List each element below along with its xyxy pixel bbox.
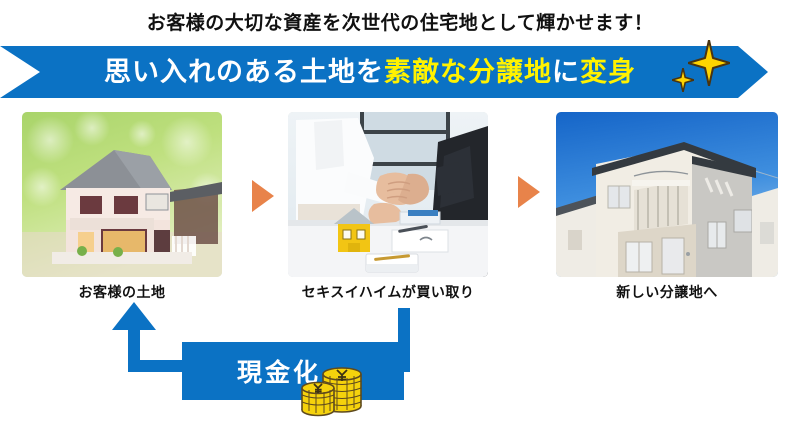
- steps-row: お客様の土地: [0, 112, 800, 302]
- step-card-3-label: 新しい分譲地へ: [556, 282, 778, 302]
- step-card-1[interactable]: お客様の土地: [22, 112, 222, 277]
- step-card-2[interactable]: セキスイハイムが買い取り: [288, 112, 488, 277]
- ribbon-segment-2: 素敵な分譲地: [384, 59, 552, 86]
- ribbon-segment-4: 変身: [580, 59, 636, 86]
- house-model-green-bokeh-image: [22, 112, 222, 277]
- new-houses-blue-sky-image: [556, 112, 778, 277]
- ribbon-segment-1: 思い入れのある土地を: [104, 59, 384, 86]
- step-card-1-label: お客様の土地: [22, 282, 222, 302]
- page-headline: お客様の大切な資産を次世代の住宅地として輝かせます！: [0, 8, 800, 35]
- step-card-2-label: セキスイハイムが買い取り: [288, 282, 488, 302]
- ribbon-segment-3: に: [552, 59, 580, 86]
- step-arrow-icon-2: [518, 176, 540, 208]
- handshake-desk-image: [288, 112, 488, 277]
- step-card-3[interactable]: 新しい分譲地へ: [556, 112, 778, 277]
- sparkle-icon: [688, 40, 730, 86]
- cash-out-box[interactable]: 現金化: [182, 342, 404, 400]
- step-arrow-icon-1: [252, 180, 274, 212]
- yen-coin-stack-icon: [300, 358, 362, 416]
- sparkle-icon-small: [672, 68, 694, 92]
